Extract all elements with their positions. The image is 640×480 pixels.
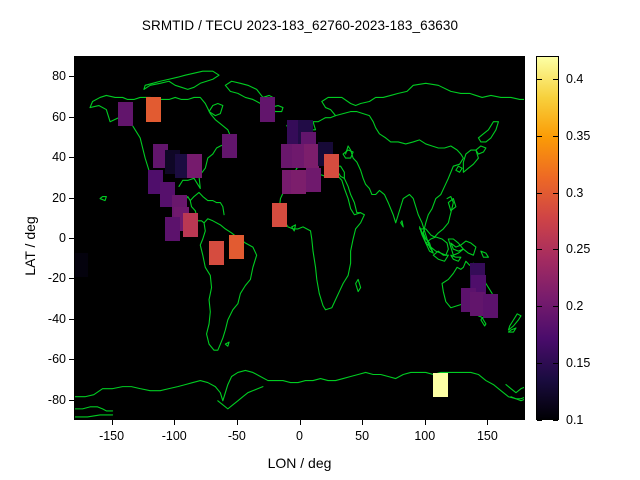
y-tick-label: -60 <box>22 352 66 366</box>
y-tick <box>69 278 74 279</box>
y-tick <box>69 198 74 199</box>
colorbar-tick <box>553 420 558 421</box>
colorbar-tick <box>553 363 558 364</box>
x-tick <box>362 420 363 425</box>
data-cell <box>470 292 485 316</box>
x-tick-label: -150 <box>99 429 124 443</box>
x-tick <box>487 420 488 425</box>
x-tick-label: -100 <box>162 429 187 443</box>
x-tick <box>237 420 238 425</box>
colorbar-tick-label: 0.4 <box>566 72 583 86</box>
y-tick-label: 60 <box>22 110 66 124</box>
data-cell <box>483 294 498 318</box>
colorbar-tick <box>537 420 542 421</box>
colorbar-tick-label: 0.35 <box>566 129 590 143</box>
colorbar-tick <box>537 136 542 137</box>
y-axis-title: LAT / deg <box>22 176 38 316</box>
map-plot-area <box>74 56 525 420</box>
y-tick-label: 80 <box>22 69 66 83</box>
colorbar-tick <box>553 193 558 194</box>
data-cell <box>272 203 287 227</box>
data-cell <box>229 235 244 259</box>
data-cell <box>74 253 88 277</box>
data-cell <box>118 102 133 126</box>
data-cell <box>187 154 202 178</box>
x-tick-label: 50 <box>355 429 369 443</box>
colorbar-gradient <box>537 57 558 419</box>
y-tick-label: -80 <box>22 393 66 407</box>
data-cell <box>209 241 224 265</box>
data-cell <box>222 134 237 158</box>
colorbar-tick-label: 0.1 <box>566 413 583 427</box>
data-cell <box>306 168 321 192</box>
data-cell <box>324 154 339 178</box>
data-cell <box>146 97 161 121</box>
chart-title: SRMTID / TECU 2023-183_62760-2023-183_63… <box>0 18 600 33</box>
colorbar-tick <box>553 136 558 137</box>
x-tick <box>300 420 301 425</box>
colorbar-tick <box>553 306 558 307</box>
x-tick-label: 150 <box>477 429 498 443</box>
y-tick <box>69 238 74 239</box>
colorbar-tick <box>553 249 558 250</box>
colorbar-tick-label: 0.15 <box>566 356 590 370</box>
data-cell <box>291 170 306 194</box>
colorbar-tick <box>553 79 558 80</box>
x-tick-label: 100 <box>414 429 435 443</box>
colorbar-tick <box>537 79 542 80</box>
colorbar-tick-label: 0.2 <box>566 299 583 313</box>
colorbar-tick <box>537 363 542 364</box>
x-axis-title: LON / deg <box>74 455 525 471</box>
x-tick-label: -50 <box>228 429 246 443</box>
data-cell <box>165 217 180 241</box>
colorbar-tick-label: 0.3 <box>566 186 583 200</box>
y-tick <box>69 319 74 320</box>
data-cell <box>260 97 275 121</box>
y-tick <box>69 359 74 360</box>
coastline-layer <box>75 57 525 420</box>
x-tick <box>425 420 426 425</box>
colorbar <box>536 56 559 420</box>
y-tick-label: 40 <box>22 150 66 164</box>
x-tick <box>112 420 113 425</box>
colorbar-tick <box>537 249 542 250</box>
data-cell <box>183 213 198 237</box>
y-tick <box>69 76 74 77</box>
colorbar-tick-label: 0.25 <box>566 242 590 256</box>
y-tick <box>69 117 74 118</box>
x-tick <box>174 420 175 425</box>
data-cell <box>433 373 448 397</box>
y-tick <box>69 157 74 158</box>
y-tick <box>69 400 74 401</box>
colorbar-tick <box>537 193 542 194</box>
x-tick-label: 0 <box>296 429 303 443</box>
colorbar-tick <box>537 306 542 307</box>
